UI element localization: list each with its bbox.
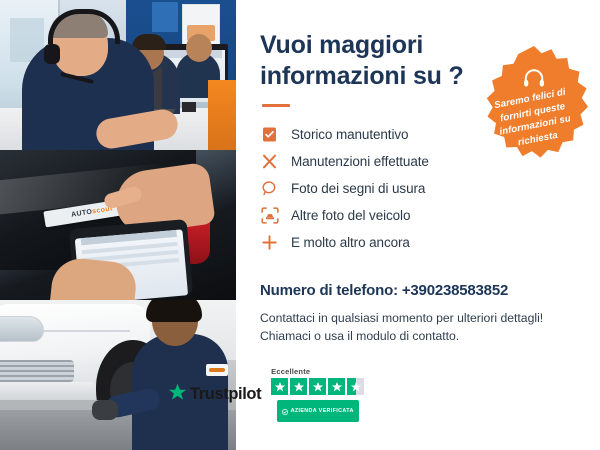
trustpilot-star-icon: [168, 383, 187, 407]
magnifier-icon: [260, 179, 279, 198]
info-request-badge: Saremo felici di fornirti queste informa…: [474, 44, 594, 164]
verified-check-icon: [282, 402, 288, 420]
trustpilot-logo: Trustpilot: [168, 383, 261, 407]
feature-label: Manutenzioni effettuate: [291, 154, 429, 169]
trustpilot-rating-block: Eccellente: [271, 367, 364, 422]
mechanic-hair: [146, 300, 202, 322]
page-title: Vuoi maggiori informazioni su ?: [260, 30, 470, 91]
star-half: [347, 378, 364, 395]
advert-banner: AUTOscout: [0, 0, 600, 450]
photo-call-centre: [0, 0, 236, 150]
car-scan-icon: [260, 206, 279, 225]
star-filled: [290, 378, 307, 395]
star-filled: [309, 378, 326, 395]
star-filled: [271, 378, 288, 395]
feature-label: Altre foto del veicolo: [291, 208, 410, 223]
phone-number-line[interactable]: Numero di telefono: +390238583852: [260, 282, 582, 299]
trustpilot-wordmark: Trustpilot: [190, 385, 261, 404]
phone-label: Numero di telefono:: [260, 282, 398, 299]
contact-line-1: Contattaci in qualsiasi momento per ulte…: [260, 309, 582, 327]
trustpilot-stars: [271, 378, 364, 395]
trustpilot-widget[interactable]: Trustpilot Eccellente: [168, 367, 364, 422]
feature-item-molto-altro[interactable]: E molto altro ancora: [260, 229, 582, 256]
background-worker-3-head: [186, 34, 212, 62]
feature-item-altre-foto-veicolo[interactable]: Altre foto del veicolo: [260, 202, 582, 229]
verified-label: AZIENDA VERIFICATA: [291, 408, 354, 414]
car-headlight: [0, 316, 44, 342]
car-grille: [0, 360, 74, 382]
photo-plate-scan: AUTOscout: [0, 150, 236, 300]
monitor-stand: [182, 102, 196, 112]
verified-business-badge: AZIENDA VERIFICATA: [277, 400, 359, 422]
plus-icon: [260, 233, 279, 252]
feature-label: Foto dei segni di usura: [291, 181, 425, 196]
feature-label: Storico manutentivo: [291, 127, 408, 142]
feature-label: E molto altro ancora: [291, 235, 410, 250]
headset-earcup: [44, 44, 60, 64]
clipboard-check-icon: [260, 125, 279, 144]
licence-plate-logo: AUTOscout: [71, 205, 114, 218]
phone-number[interactable]: +390238583852: [402, 282, 508, 299]
star-filled: [328, 378, 345, 395]
contact-line-2: Chiamaci o usa il modulo di contatto.: [260, 327, 582, 345]
orange-equipment: [208, 80, 236, 150]
wall-poster-blue: [152, 2, 178, 32]
title-underline-rule: [262, 104, 290, 107]
trustpilot-rating-label: Eccellente: [271, 367, 310, 376]
contact-instructions: Contattaci in qualsiasi momento per ulte…: [260, 309, 582, 345]
mechanic-glove: [92, 400, 118, 420]
wrench-screwdriver-icon: [260, 152, 279, 171]
feature-item-foto-segni-usura[interactable]: Foto dei segni di usura: [260, 175, 582, 202]
